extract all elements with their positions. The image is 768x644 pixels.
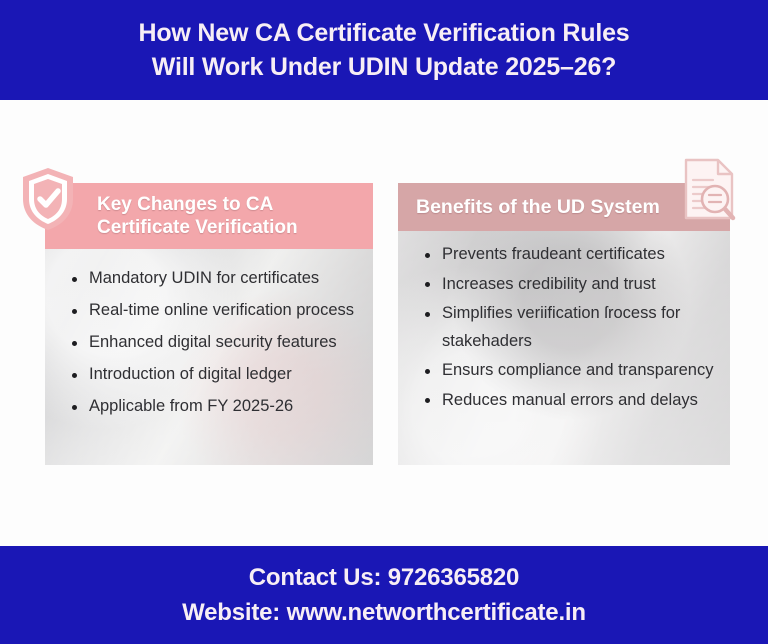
list-item: Enhanced digital security features (71, 329, 359, 357)
benefits-list: Prevents fraudeant certificates Increase… (398, 231, 730, 414)
list-item: Introduction of digital ledger (71, 361, 359, 389)
page-title-line-2: Will Work Under UDIN Update 2025–26? (152, 50, 616, 84)
page-title-line-1: How New CA Certificate Verification Rule… (139, 16, 630, 50)
card-benefits-ud-system: Benefits of the UD System Prevents fraud… (398, 183, 730, 465)
list-item: Prevents fraudeant certificates (424, 241, 720, 269)
card-key-changes: Key Changes to CA Certificate Verificati… (45, 183, 373, 465)
card-benefits-body: Prevents fraudeant certificates Increase… (398, 231, 730, 465)
header-banner: How New CA Certificate Verification Rule… (0, 0, 768, 100)
card-key-changes-title-line-1: Key Changes to CA (97, 193, 298, 216)
footer-contact: Contact Us: 9726365820 (249, 560, 519, 595)
card-key-changes-header: Key Changes to CA Certificate Verificati… (45, 183, 373, 249)
list-item: Simplifies veriification ſrocess for sta… (424, 300, 720, 355)
shield-check-icon (17, 165, 79, 233)
card-benefits-title: Benefits of the UD System (416, 196, 660, 219)
content-stage: Key Changes to CA Certificate Verificati… (0, 100, 768, 546)
list-item: Increases credibility and trust (424, 271, 720, 299)
list-item: Mandatory UDIN for certificates (71, 265, 359, 293)
list-item: Applicable from FY 2025-26 (71, 393, 359, 421)
list-item: Ensurs compliance and transparency (424, 357, 720, 385)
key-changes-list: Mandatory UDIN for certificates Real-tim… (45, 249, 373, 421)
list-item: Reduces manual errors and delays (424, 387, 720, 415)
card-key-changes-body: Mandatory UDIN for certificates Real-tim… (45, 249, 373, 465)
footer-banner: Contact Us: 9726365820 Website: www.netw… (0, 546, 768, 644)
footer-website: Website: www.networthcertificate.in (182, 595, 586, 630)
card-key-changes-title-line-2: Certificate Verification (97, 216, 298, 239)
document-search-icon (678, 156, 738, 224)
list-item: Real-time online verification process (71, 297, 359, 325)
